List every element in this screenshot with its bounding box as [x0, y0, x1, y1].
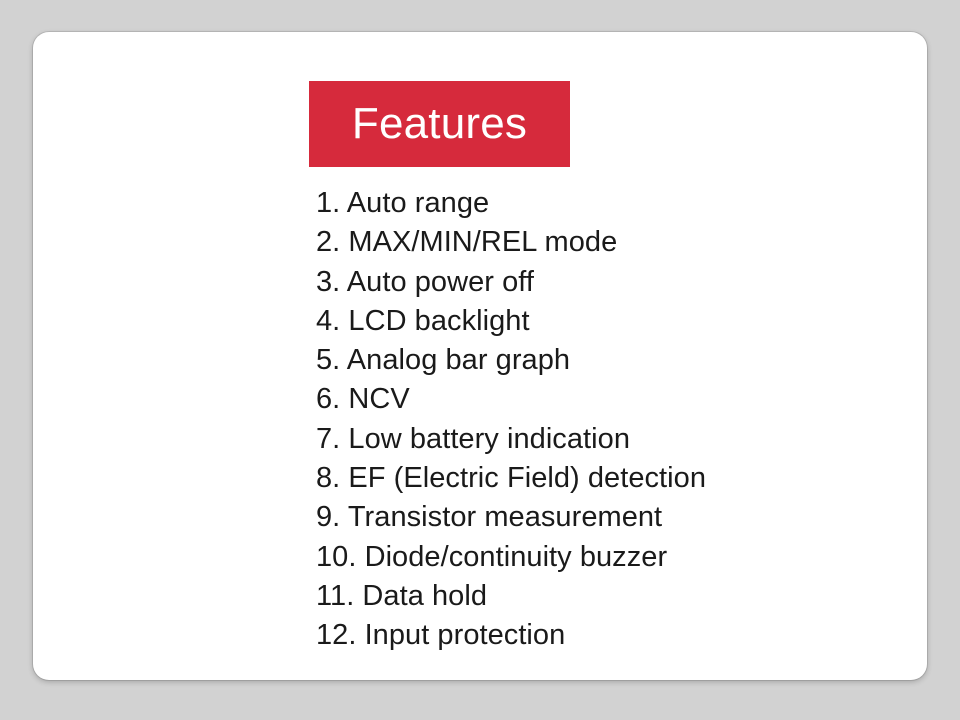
list-item: 4. LCD backlight [316, 302, 896, 341]
list-item: 11. Data hold [316, 577, 896, 616]
list-item: 6. NCV [316, 380, 896, 419]
list-item: 10. Diode/continuity buzzer [316, 538, 896, 577]
list-item: 1. Auto range [316, 184, 896, 223]
list-item: 12. Input protection [316, 616, 896, 655]
title-banner: Features [309, 81, 570, 167]
slide-card: Features 1. Auto range 2. MAX/MIN/REL mo… [33, 32, 927, 680]
list-item: 8. EF (Electric Field) detection [316, 459, 896, 498]
list-item: 2. MAX/MIN/REL mode [316, 223, 896, 262]
features-list: 1. Auto range 2. MAX/MIN/REL mode 3. Aut… [316, 184, 896, 656]
list-item: 9. Transistor measurement [316, 498, 896, 537]
list-item: 3. Auto power off [316, 263, 896, 302]
slide-root: Features 1. Auto range 2. MAX/MIN/REL mo… [0, 0, 960, 720]
list-item: 7. Low battery indication [316, 420, 896, 459]
list-item: 5. Analog bar graph [316, 341, 896, 380]
page-title: Features [309, 102, 570, 146]
